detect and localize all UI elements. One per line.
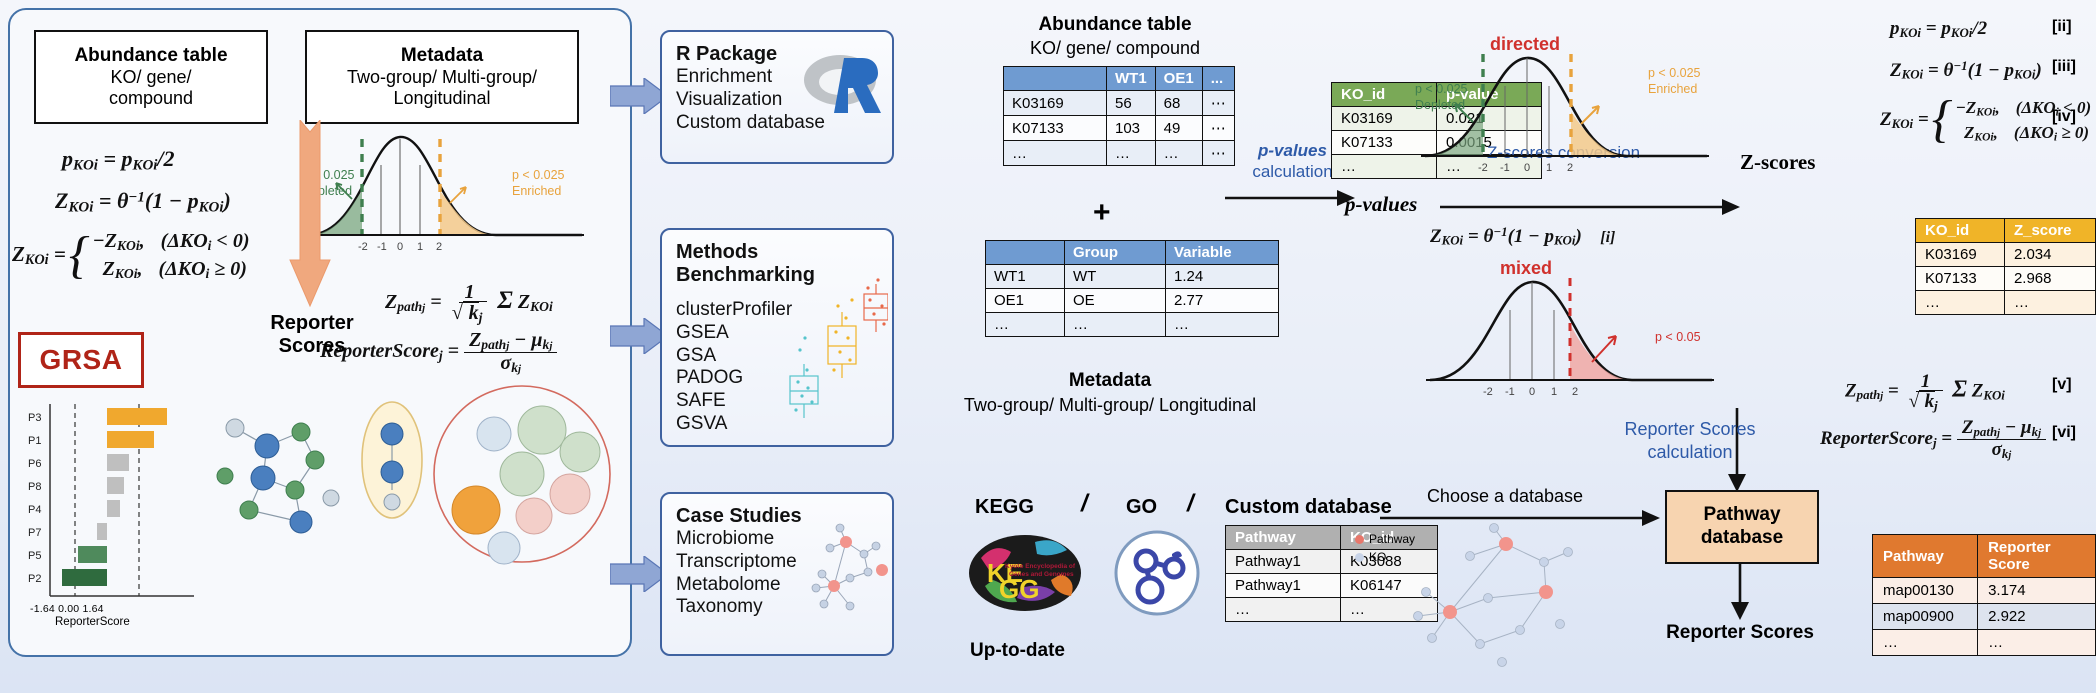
reporter-scores-bottom-label: Reporter Scores — [1660, 622, 1820, 645]
table-row: WT1 WT 1.24 — [986, 265, 1279, 289]
case-studies-title: Case Studies — [676, 505, 802, 528]
md-r0c1: WT — [1065, 265, 1166, 289]
svg-text:-1: -1 — [1500, 162, 1510, 174]
svg-text:P6: P6 — [28, 458, 41, 470]
table-row: K03169 2.034 — [1916, 243, 2096, 267]
ab-r0c1: 56 — [1107, 91, 1156, 116]
cdb-r1c0: Pathway1 — [1226, 574, 1341, 598]
choose-a-database-label: Choose a database — [1390, 486, 1620, 507]
r-logo-icon — [800, 48, 884, 120]
case-studies-item-2: Metabolome — [676, 574, 802, 597]
cdb-th-0: Pathway — [1226, 526, 1341, 550]
mid-metadata-title: Metadata — [1000, 370, 1220, 392]
table-header-row: Pathway Reporter Score — [1873, 535, 2096, 578]
svg-text:P8: P8 — [28, 481, 41, 493]
abundance-data-table: WT1 OE1 ... K03169 56 68 ⋯ K07133 103 49… — [1003, 66, 1235, 166]
tag-i: [i] — [1600, 229, 1615, 246]
mid-abundance-title: Abundance table — [1000, 14, 1230, 37]
svg-text:GG: GG — [999, 574, 1039, 604]
formula-p-half: pKOi = pKOi/2 — [62, 146, 175, 174]
svg-text:-2: -2 — [1483, 386, 1493, 398]
table-header-row: KO_id Z_score — [1916, 219, 2096, 243]
network-icon — [810, 520, 888, 630]
up-to-date-label: Up-to-date — [970, 640, 1065, 662]
ab-r0c2: 68 — [1155, 91, 1202, 116]
svg-text:0: 0 — [1524, 162, 1530, 174]
reporterscore-bar-chart: P3 P1 P6 P8 P4 P7 P5 P2 — [22, 400, 197, 630]
md-th-2: Variable — [1166, 241, 1279, 265]
svg-text:1: 1 — [1546, 162, 1552, 174]
case-studies-box: Case Studies Microbiome Transcriptome Me… — [660, 492, 894, 656]
zscore-table: KO_id Z_score K03169 2.034 K07133 2.968 … — [1915, 218, 2096, 315]
table-row: map00900 2.922 — [1873, 604, 2096, 630]
metadata-data-table: Group Variable WT1 WT 1.24 OE1 OE 2.77 …… — [985, 240, 1279, 337]
methods-benchmarking-box: Methods Benchmarking clusterProfiler GSE… — [660, 228, 894, 447]
go-label: GO — [1126, 496, 1157, 519]
table-row: … … … — [986, 313, 1279, 337]
ab-r2c2: … — [1155, 141, 1202, 166]
metadata-box-title: Metadata — [307, 45, 577, 67]
z-r0c0: K03169 — [1916, 243, 2005, 267]
ab-r0c0: K03169 — [1004, 91, 1107, 116]
plus-sign: + — [1093, 196, 1111, 230]
svg-text:P7: P7 — [28, 527, 41, 539]
md-th-1: Group — [1065, 241, 1166, 265]
legend-item-pathway: Pathway — [1355, 530, 1415, 548]
metadata-box: Metadata Two-group/ Multi-group/ Longitu… — [305, 30, 579, 124]
slash-separator-1: / — [1081, 490, 1088, 518]
svg-text:P2: P2 — [28, 573, 41, 585]
grsa-text: GRSA — [40, 344, 123, 376]
formula-z-cases: ZKOi = { −ZKOi,(ΔKOi < 0) ZKOi,(ΔKOi ≥ 0… — [12, 230, 249, 282]
pathway-database-box: Pathway database — [1665, 490, 1819, 564]
reporter-scores-calculation-label: Reporter Scorescalculation — [1600, 418, 1780, 465]
table-row: … … … ⋯ — [1004, 141, 1235, 166]
md-r0c2: 1.24 — [1166, 265, 1279, 289]
slash-separator-2: / — [1187, 490, 1194, 518]
boxplot-icon — [778, 278, 888, 438]
orange-down-arrow-icon — [288, 120, 332, 310]
rs-r0c0: map00130 — [1873, 578, 1978, 604]
z-r0c1: 2.034 — [2004, 243, 2095, 267]
directed-enriched-note: p < 0.025Enriched — [1648, 66, 1700, 97]
cdb-r0c0: Pathway1 — [1226, 550, 1341, 574]
abundance-table-box: Abundance table KO/ gene/ compound — [34, 30, 268, 124]
mid-abundance-subtitle: KO/ gene/ compound — [985, 38, 1245, 59]
table-header-row: WT1 OE1 ... — [1004, 67, 1235, 91]
pathway-circle-graphic — [430, 382, 615, 567]
legend-item-ko: KO — [1355, 548, 1415, 566]
z-r1c1: 2.968 — [2004, 267, 2095, 291]
case-studies-item-1: Transcriptome — [676, 551, 802, 574]
table-row: … … — [1916, 291, 2096, 315]
abundance-box-line2: KO/ gene/ — [36, 67, 266, 88]
table-row: OE1 OE 2.77 — [986, 289, 1279, 313]
z-r2c0: … — [1916, 291, 2005, 315]
rs-r2c1: … — [1978, 630, 2096, 656]
r-package-box: R Package Enrichment Visualization Custo… — [660, 30, 894, 164]
kegg-label: KEGG — [975, 496, 1034, 519]
table-row: … … — [1873, 630, 2096, 656]
rs-r1c1: 2.922 — [1978, 604, 2096, 630]
md-r1c1: OE — [1065, 289, 1166, 313]
kegg-logo-icon: KE GG Kyoto Encyclopedia of Genes and Ge… — [965, 528, 1085, 618]
rs-r0c1: 3.174 — [1978, 578, 2096, 604]
tag-ii: [ii] — [2052, 18, 2072, 36]
ab-th-0 — [1004, 67, 1107, 91]
custom-database-label: Custom database — [1225, 496, 1392, 519]
rs-th-0: Pathway — [1873, 535, 1978, 578]
md-r1c2: 2.77 — [1166, 289, 1279, 313]
z-th-0: KO_id — [1916, 219, 2005, 243]
ab-th-1: WT1 — [1107, 67, 1156, 91]
arrow-pvalues-icon — [1225, 186, 1355, 210]
svg-text:-2: -2 — [358, 241, 368, 253]
formula-iii: ZKOi = θ−1(1 − pKOi) — [1890, 58, 2042, 83]
go-logo-icon — [1112, 528, 1202, 618]
network-legend: Pathway KO — [1355, 530, 1415, 566]
formula-i: ZKOi = θ−1(1 − pKOi) [i] — [1430, 224, 1615, 249]
table-row: Pathway1 K06147 — [1226, 574, 1438, 598]
ab-r1c2: 49 — [1155, 116, 1202, 141]
svg-text:-1: -1 — [377, 241, 387, 253]
svg-text:-2: -2 — [1478, 162, 1488, 174]
svg-text:2: 2 — [1572, 386, 1578, 398]
svg-text:2: 2 — [1567, 162, 1573, 174]
svg-text:P5: P5 — [28, 550, 41, 562]
svg-text:Genes and Genomes: Genes and Genomes — [1009, 571, 1074, 578]
svg-text:0: 0 — [1529, 386, 1535, 398]
zscores-word: Z-scores — [1740, 150, 1815, 175]
abundance-box-title: Abundance table — [36, 45, 266, 67]
bar-chart-xticks: -1.64 0.00 1.64 — [30, 603, 104, 615]
pathway-database-label: Pathway database — [1667, 504, 1817, 550]
table-row: K07133 103 49 ⋯ — [1004, 116, 1235, 141]
mixed-p-note: p < 0.05 — [1655, 330, 1701, 344]
case-studies-item-3: Taxonomy — [676, 596, 802, 619]
z-th-1: Z_score — [2004, 219, 2095, 243]
reporter-scores-label: Reporter Scores — [262, 312, 362, 358]
tag-vi: [vi] — [2052, 424, 2076, 442]
md-r1c0: OE1 — [986, 289, 1065, 313]
svg-text:-1: -1 — [1505, 386, 1515, 398]
table-row: map00130 3.174 — [1873, 578, 2096, 604]
arrow-to-zscores-icon — [1440, 195, 1740, 219]
tag-iii: [iii] — [2052, 58, 2076, 76]
formula-vi: ReporterScorej = Zpathj − μkj σkj — [1820, 418, 2046, 462]
bar-chart-xlabel: ReporterScore — [55, 616, 130, 628]
formula-z-theta: ZKOi = θ−1(1 − pKOi) — [55, 188, 231, 216]
pathway-network-graphic-1 — [205, 398, 355, 548]
ab-th-3: ... — [1202, 67, 1234, 91]
left-curve-enriched-note: p < 0.025Enriched — [512, 168, 564, 199]
case-studies-item-0: Microbiome — [676, 528, 802, 551]
z-r1c0: K07133 — [1916, 267, 2005, 291]
metadata-box-line3: Longitudinal — [307, 88, 577, 109]
ab-r0c3: ⋯ — [1202, 91, 1234, 116]
formula-zpath-left: Zpathj = 1√ kj Σ ZKOi — [385, 282, 553, 325]
ab-r2c0: … — [1004, 141, 1107, 166]
md-r2c1: … — [1065, 313, 1166, 337]
svg-text:0: 0 — [397, 241, 403, 253]
legend-dot-ko — [1355, 553, 1364, 562]
ab-r1c3: ⋯ — [1202, 116, 1234, 141]
pathway-network-graphic-2 — [352, 398, 432, 528]
tag-v: [v] — [2052, 376, 2072, 394]
pathway-ko-network-graphic — [1410, 520, 1580, 670]
formula-v: Zpathj = 1√ kj Σ ZKOi — [1845, 372, 2005, 412]
tag-iv: [iv] — [2052, 108, 2076, 126]
metadata-box-line2: Two-group/ Multi-group/ — [307, 67, 577, 88]
ab-r2c1: … — [1107, 141, 1156, 166]
ab-r1c1: 103 — [1107, 116, 1156, 141]
svg-text:2: 2 — [436, 241, 442, 253]
ab-r1c0: K07133 — [1004, 116, 1107, 141]
md-th-0 — [986, 241, 1065, 265]
svg-text:1: 1 — [1551, 386, 1557, 398]
svg-text:P1: P1 — [28, 435, 41, 447]
rs-th-1: Reporter Score — [1978, 535, 2096, 578]
cdb-r2c0: … — [1226, 598, 1341, 622]
abundance-box-line3: compound — [36, 88, 266, 109]
table-row: K07133 2.968 — [1916, 267, 2096, 291]
rs-r2c0: … — [1873, 630, 1978, 656]
z-r2c1: … — [2004, 291, 2095, 315]
grsa-badge: GRSA — [18, 332, 144, 388]
svg-text:P4: P4 — [28, 504, 41, 516]
arrow-down-to-reporterscores-icon — [1727, 562, 1753, 620]
legend-dot-pathway — [1355, 535, 1364, 544]
reporter-score-table: Pathway Reporter Score map00130 3.174 ma… — [1872, 534, 2096, 656]
formula-ii: pKOi = pKOi/2 — [1890, 18, 1987, 41]
md-r0c0: WT1 — [986, 265, 1065, 289]
table-row: K03169 56 68 ⋯ — [1004, 91, 1235, 116]
svg-text:1: 1 — [417, 241, 423, 253]
mid-metadata-subtitle: Two-group/ Multi-group/ Longitudinal — [925, 395, 1295, 416]
directed-depleted-note: p < 0.025Depleted — [1415, 82, 1467, 113]
pvalues-word: p-values — [1345, 192, 1417, 217]
svg-text:P3: P3 — [28, 412, 41, 424]
md-r2c0: … — [986, 313, 1065, 337]
md-r2c2: … — [1166, 313, 1279, 337]
svg-text:Kyoto Encyclopedia of: Kyoto Encyclopedia of — [1005, 563, 1076, 570]
rs-r1c0: map00900 — [1873, 604, 1978, 630]
table-row: … … — [1226, 598, 1438, 622]
ab-th-2: OE1 — [1155, 67, 1202, 91]
table-header-row: Group Variable — [986, 241, 1279, 265]
